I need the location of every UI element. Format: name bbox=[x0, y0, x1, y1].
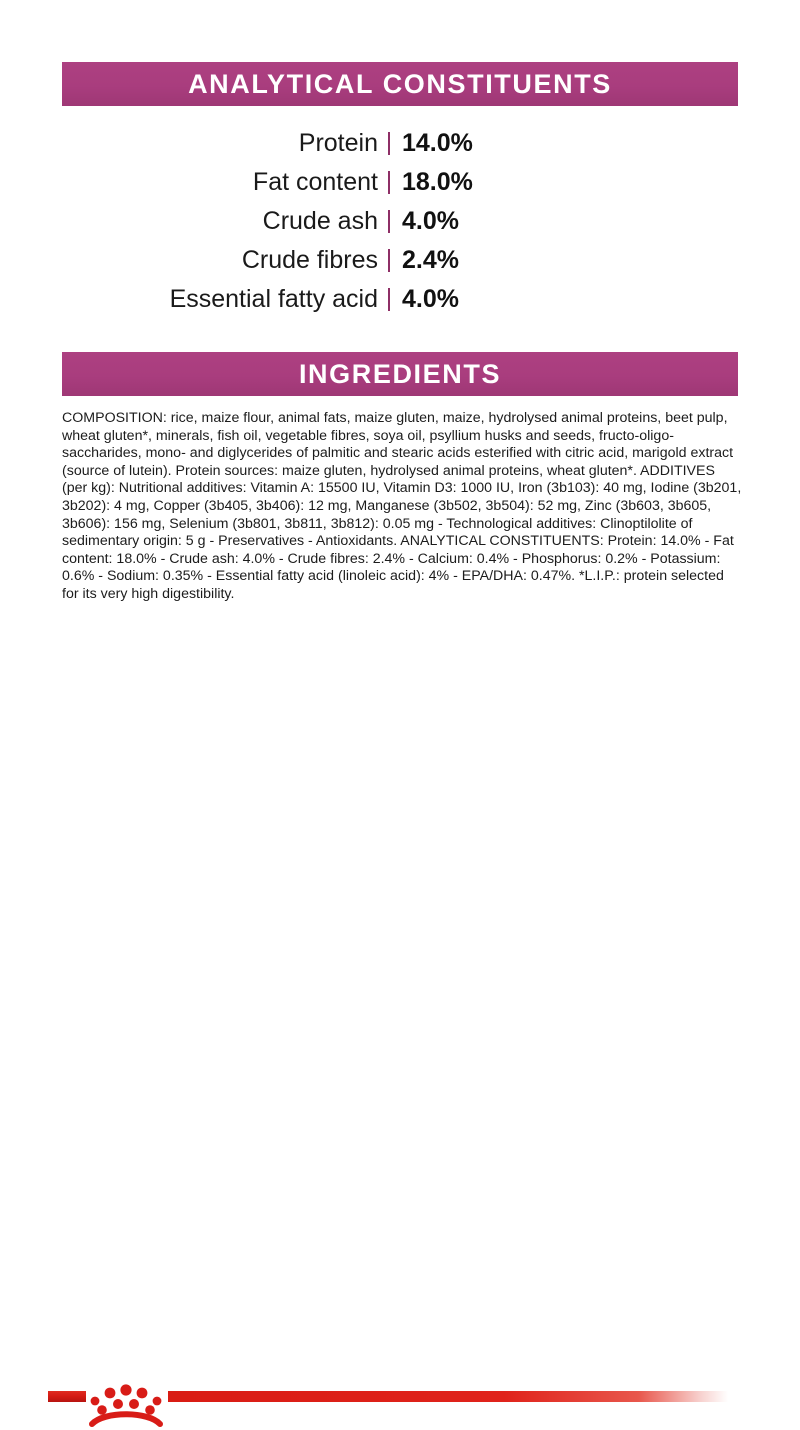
constituent-value: 4.0% bbox=[388, 209, 459, 234]
footer-brandmark bbox=[0, 688, 800, 748]
constituent-label: Essential fatty acid bbox=[62, 287, 388, 312]
product-nutrition-panel: ANALYTICAL CONSTITUENTS Protein14.0%Fat … bbox=[0, 0, 800, 800]
constituent-row: Fat content18.0% bbox=[62, 163, 738, 202]
constituent-label: Protein bbox=[62, 131, 388, 156]
constituent-value: 4.0% bbox=[388, 287, 459, 312]
constituent-row: Essential fatty acid4.0% bbox=[62, 280, 738, 319]
constituent-row: Crude fibres2.4% bbox=[62, 241, 738, 280]
section-header-analytical-constituents: ANALYTICAL CONSTITUENTS bbox=[62, 62, 738, 106]
analytical-constituents-chart: Protein14.0%Fat content18.0%Crude ash4.0… bbox=[62, 124, 738, 319]
constituent-row: Protein14.0% bbox=[62, 124, 738, 163]
royal-canin-crown-logo bbox=[86, 1378, 166, 1430]
composition-text: COMPOSITION: rice, maize flour, animal f… bbox=[62, 410, 744, 604]
section-header-ingredients: INGREDIENTS bbox=[62, 352, 738, 396]
section-title-ingredients: INGREDIENTS bbox=[299, 361, 501, 388]
constituent-value: 18.0% bbox=[388, 170, 473, 195]
constituent-label: Fat content bbox=[62, 170, 388, 195]
constituent-label: Crude fibres bbox=[62, 248, 388, 273]
constituent-value: 14.0% bbox=[388, 131, 473, 156]
footer-rule-right bbox=[168, 1391, 728, 1402]
footer-rule-left bbox=[48, 1391, 86, 1402]
constituent-label: Crude ash bbox=[62, 209, 388, 234]
section-title-analytical-constituents: ANALYTICAL CONSTITUENTS bbox=[188, 71, 612, 98]
constituent-value: 2.4% bbox=[388, 248, 459, 273]
constituent-row: Crude ash4.0% bbox=[62, 202, 738, 241]
